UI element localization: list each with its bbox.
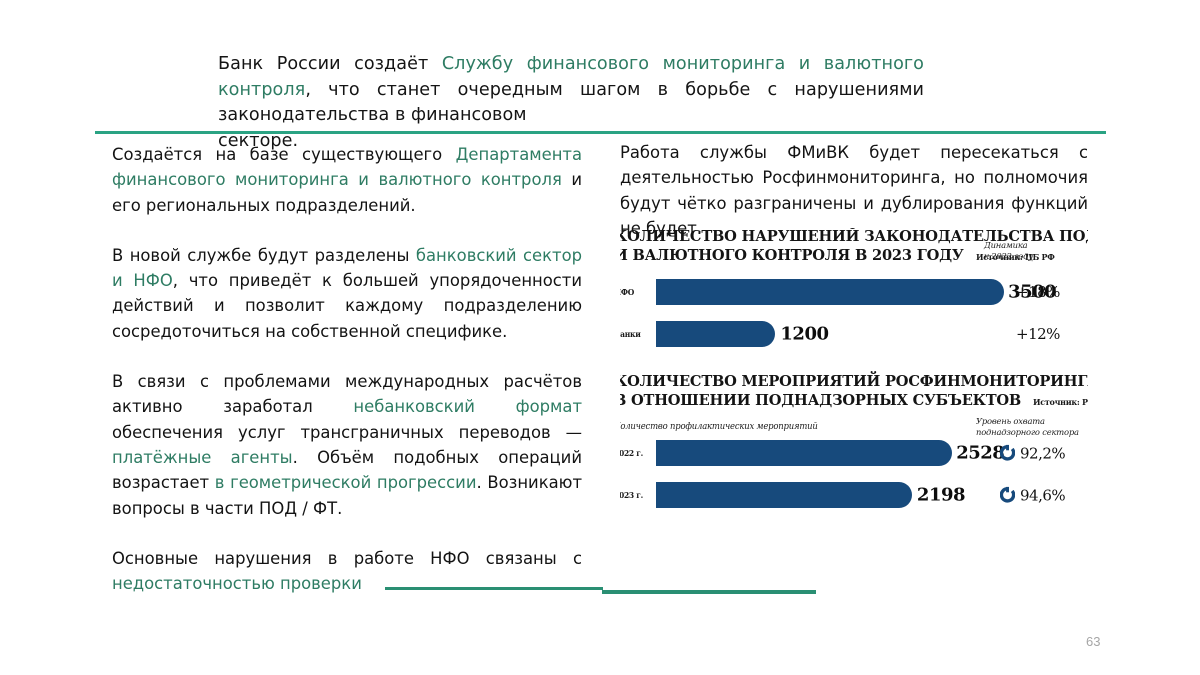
chart-2-value-1: 2198	[917, 485, 965, 506]
chart-1-delta-1: +12%	[1016, 325, 1088, 343]
chart-2-coverage-label-0: 92,2%	[1020, 444, 1065, 462]
right-paragraph-1: Работа службы ФМиВК будет пересекаться с…	[620, 140, 1088, 241]
slide-canvas: Банк России создаёт Службу финансового м…	[0, 0, 1200, 675]
chart-2-source: Источник: Росфинмониторинг	[1033, 398, 1088, 408]
paragraph-3: В связи с проблемами международных расчё…	[112, 369, 582, 521]
chart-1-delta-0: +18%	[1016, 283, 1088, 301]
paragraph-3-accent-3: в геометрической прогрессии	[215, 473, 477, 492]
chart-1-column-header: Динамикак 2022 году	[984, 240, 1088, 261]
title-segment-1: Банк России создаёт	[218, 54, 442, 74]
chart-1-category-0: НФО	[620, 287, 634, 297]
chart-2-category-1: 2023 г.	[620, 490, 643, 500]
paragraph-2: В новой службе будут разделены банковски…	[112, 243, 582, 344]
page-title: Банк России создаёт Службу финансового м…	[218, 52, 924, 154]
chart-2-title-line-1: КОЛИЧЕСТВО МЕРОПРИЯТИЙ РОСФИНМОНИТОРИНГА	[620, 373, 1088, 392]
paragraph-2-text-b: , что приведёт к большей упорядоченности…	[112, 271, 582, 341]
coverage-ring-icon	[1000, 486, 1015, 505]
paragraph-4-text-a: Основные нарушения в работе НФО связаны …	[112, 549, 582, 568]
footer-divider-right	[602, 590, 816, 594]
paragraph-4: Основные нарушения в работе НФО связаны …	[112, 546, 582, 597]
chart-1-bar-0	[656, 279, 1004, 305]
chart-2-title-line-2: В ОТНОШЕНИИ ПОДНАДЗОРНЫХ СУБЪЕКТОВ	[620, 392, 1021, 411]
chart-1-bar-row: НФО 3500 +18%	[620, 275, 1088, 309]
coverage-ring-icon	[1000, 444, 1015, 463]
paragraph-3-accent-1: небанковский формат	[353, 397, 582, 416]
header-divider	[95, 131, 1106, 134]
chart-2-bar-1	[656, 482, 912, 508]
chart-rosfinmonitoring: КОЛИЧЕСТВО МЕРОПРИЯТИЙ РОСФИНМОНИТОРИНГА…	[620, 373, 1088, 512]
page-number: 63	[1086, 634, 1100, 649]
paragraph-4-accent: недостаточностью проверки	[112, 574, 362, 593]
left-text-column: Создаётся на базе существующего Департам…	[112, 142, 582, 596]
chart-2-bar-row: 2023 г. 2198 94,6%	[620, 478, 1088, 512]
right-text-column: Работа службы ФМиВК будет пересекаться с…	[620, 140, 1088, 241]
paragraph-3-text-b: обеспечения услуг трансграничных перевод…	[112, 423, 582, 442]
chart-2-bar-row: 2022 г. 2528 92,2%	[620, 436, 1088, 470]
paragraph-1-text-a: Создаётся на базе существующего	[112, 145, 456, 164]
chart-1-title-line-2: И ВАЛЮТНОГО КОНТРОЛЯ В 2023 ГОДУ	[620, 247, 964, 266]
chart-1-category-1: Банки	[620, 329, 641, 339]
title-segment-3: , что станет очередным шагом в борьбе с …	[218, 80, 924, 126]
chart-2-category-0: 2022 г.	[620, 448, 643, 458]
chart-2-coverage-0: 92,2%	[1000, 444, 1088, 463]
chart-2-value-0: 2528	[956, 443, 1004, 464]
chart-2-coverage-label-1: 94,6%	[1020, 486, 1065, 504]
chart-2-column-header: Уровень охватаподнадзорного сектора	[976, 416, 1088, 437]
chart-1-value-1: 1200	[780, 324, 828, 345]
paragraph-2-text-a: В новой службе будут разделены	[112, 246, 416, 265]
chart-2-coverage-1: 94,6%	[1000, 486, 1088, 505]
chart-2-bar-0	[656, 440, 952, 466]
chart-violations: КОЛИЧЕСТВО НАРУШЕНИЙ ЗАКОНОДАТЕЛЬСТВА ПО…	[620, 228, 1088, 351]
chart-1-bar-1	[656, 321, 775, 347]
infographic-image: КОЛИЧЕСТВО НАРУШЕНИЙ ЗАКОНОДАТЕЛЬСТВА ПО…	[620, 228, 1088, 573]
paragraph-3-accent-2: платёжные агенты	[112, 448, 293, 467]
paragraph-1: Создаётся на базе существующего Департам…	[112, 142, 582, 218]
chart-1-bar-row: Банки 1200 +12%	[620, 317, 1088, 351]
